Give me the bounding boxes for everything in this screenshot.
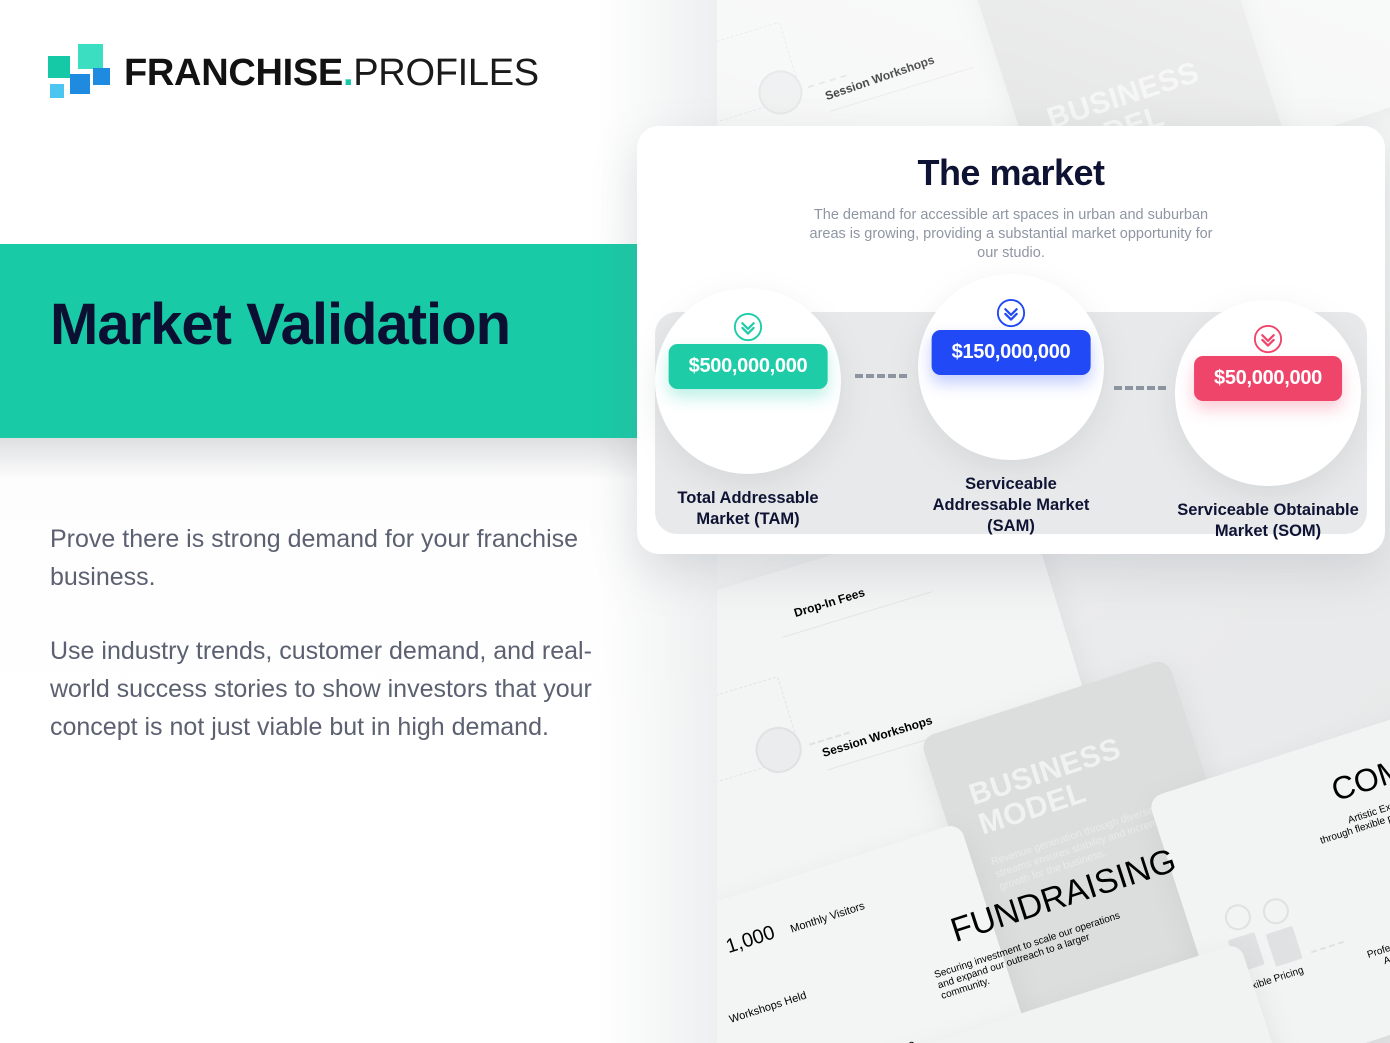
logo-name-light: PROFILES bbox=[353, 52, 539, 94]
hero-band: Market Validation bbox=[0, 244, 637, 438]
bg-top-right-text: Accessible Spaces bbox=[1366, 41, 1390, 91]
market-label-som: Serviceable Obtainable Market (SOM) bbox=[1175, 500, 1361, 542]
market-circle-tam: $500,000,000 bbox=[655, 288, 841, 474]
double-chevron-down-icon bbox=[1253, 324, 1283, 354]
market-value-sam: $150,000,000 bbox=[932, 330, 1091, 375]
market-node-sam[interactable]: $150,000,000 Serviceable Addressable Mar… bbox=[918, 274, 1104, 537]
connector-sam-som bbox=[1114, 386, 1166, 390]
market-circle-som: $50,000,000 bbox=[1175, 300, 1361, 486]
market-label-sam: Serviceable Addressable Market (SAM) bbox=[918, 474, 1104, 537]
body-paragraph-2: Use industry trends, customer demand, an… bbox=[50, 632, 595, 746]
market-node-som[interactable]: $50,000,000 Serviceable Obtainable Marke… bbox=[1175, 300, 1361, 542]
body-copy: Prove there is strong demand for your fr… bbox=[50, 520, 595, 746]
market-node-tam[interactable]: $500,000,000 Total Addressable Market (T… bbox=[655, 288, 841, 530]
brand-logo[interactable]: FRANCHISE.PROFILES bbox=[48, 44, 539, 102]
logo-name-bold: FRANCHISE bbox=[124, 52, 343, 94]
market-card-subtitle: The demand for accessible art spaces in … bbox=[801, 206, 1221, 263]
slide-canvas: Accessible Spaces Drop-In Fees Session W… bbox=[0, 0, 1390, 1043]
market-label-tam: Total Addressable Market (TAM) bbox=[655, 488, 841, 530]
body-paragraph-1: Prove there is strong demand for your fr… bbox=[50, 520, 595, 596]
market-value-tam: $500,000,000 bbox=[669, 344, 828, 389]
market-card: The market The demand for accessible art… bbox=[637, 126, 1385, 554]
market-card-title: The market bbox=[637, 152, 1385, 194]
logo-dot: . bbox=[343, 52, 353, 94]
double-chevron-down-icon bbox=[733, 312, 763, 342]
hero-band-shadow bbox=[0, 438, 637, 480]
page-title: Market Validation bbox=[50, 296, 510, 354]
logo-wordmark: FRANCHISE.PROFILES bbox=[124, 54, 539, 92]
connector-tam-sam bbox=[855, 374, 907, 378]
left-content-panel: FRANCHISE.PROFILES Market Validation Pro… bbox=[0, 0, 717, 1043]
market-circle-sam: $150,000,000 bbox=[918, 274, 1104, 460]
market-funnel: $500,000,000 Total Addressable Market (T… bbox=[655, 274, 1367, 544]
market-value-som: $50,000,000 bbox=[1194, 356, 1342, 401]
double-chevron-down-icon bbox=[996, 298, 1026, 328]
logo-squares-icon bbox=[48, 44, 110, 102]
